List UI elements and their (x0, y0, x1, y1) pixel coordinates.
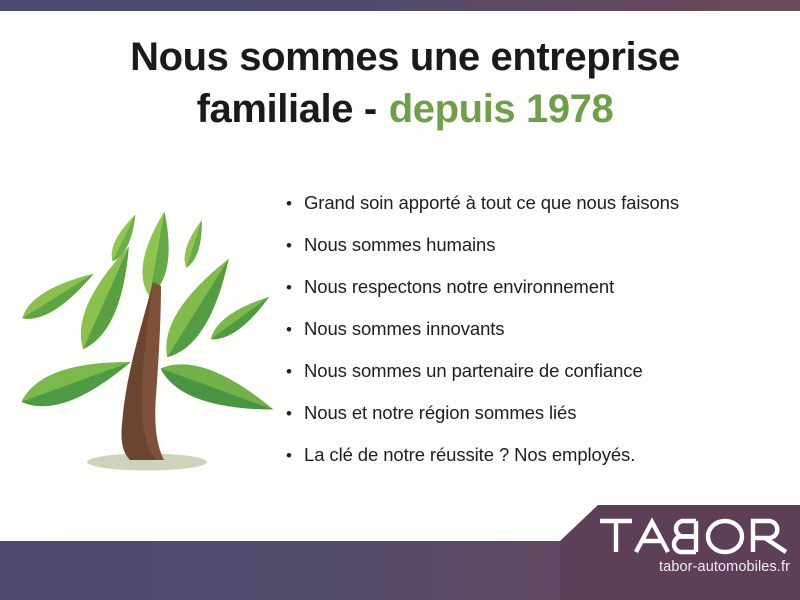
tree-trunk (121, 282, 164, 460)
list-item-label: Nous respectons notre environnement (304, 276, 614, 298)
title-line-secondary: familiale -depuis 1978 (60, 86, 750, 132)
list-item-label: Nous et notre région sommes liés (304, 402, 576, 424)
list-item: • La clé de notre réussite ? Nos employé… (286, 444, 776, 486)
list-item: • Grand soin apporté à tout ce que nous … (286, 192, 776, 234)
bullet-marker-icon: • (286, 237, 304, 254)
bullet-marker-icon: • (286, 405, 304, 422)
list-item-label: Nous sommes humains (304, 234, 495, 256)
list-item-label: Nous sommes un partenaire de confiance (304, 360, 643, 382)
slide-canvas: Nous sommes une entreprise familiale -de… (0, 0, 800, 600)
bullet-marker-icon: • (286, 321, 304, 338)
top-accent-bar (0, 0, 800, 11)
title-line-primary: Nous sommes une entreprise (60, 34, 750, 80)
bullet-marker-icon: • (286, 363, 304, 380)
logo-website-url: tabor-automobiles.fr (598, 559, 790, 575)
bullet-marker-icon: • (286, 447, 304, 464)
leaf-top-small-right (181, 218, 208, 269)
page-title: Nous sommes une entreprise familiale -de… (60, 34, 750, 132)
list-item-label: Grand soin apporté à tout ce que nous fa… (304, 192, 679, 214)
list-item: • Nous et notre région sommes liés (286, 402, 776, 444)
tabor-wordmark-logo (598, 517, 790, 555)
tree-illustration (14, 186, 276, 478)
bullet-marker-icon: • (286, 279, 304, 296)
leaf-left-lower (16, 348, 136, 417)
list-item-label: Nous sommes innovants (304, 318, 504, 340)
leaf-left-centre (70, 241, 141, 355)
list-item: • Nous sommes un partenaire de confiance (286, 360, 776, 402)
title-accent-year: depuis 1978 (389, 87, 614, 131)
list-item: • Nous respectons notre environnement (286, 276, 776, 318)
title-line-secondary-plain: familiale - (197, 87, 377, 131)
list-item-label: La clé de notre réussite ? Nos employés. (304, 444, 635, 466)
leaf-right-centre (155, 251, 242, 365)
logo-lockup: tabor-automobiles.fr (560, 505, 800, 600)
list-item: • Nous sommes humains (286, 234, 776, 276)
value-bullet-list: • Grand soin apporté à tout ce que nous … (286, 192, 776, 486)
bullet-marker-icon: • (286, 195, 304, 212)
list-item: • Nous sommes innovants (286, 318, 776, 360)
brand-logo-panel: tabor-automobiles.fr (560, 505, 800, 600)
tree-graphic (14, 186, 276, 478)
leaf-right-lower (155, 354, 276, 424)
